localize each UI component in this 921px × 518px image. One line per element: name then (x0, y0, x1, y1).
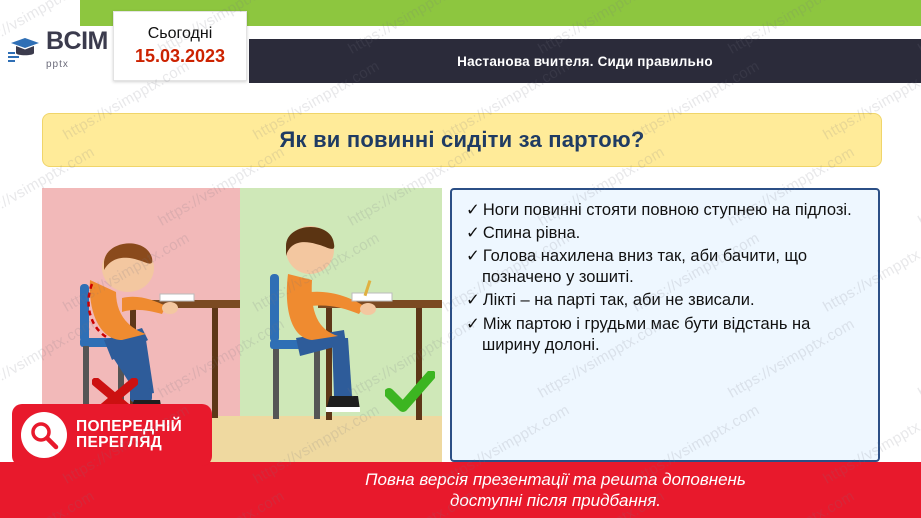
check-bullet-icon: ✓ (466, 315, 480, 333)
lesson-banner: Настанова вчителя. Сиди правильно (249, 39, 921, 83)
rules-list: ✓Ноги повинні стояти повною ступнею на п… (466, 200, 866, 356)
rule-text: Лікті – на парті так, аби не звисали. (483, 291, 755, 309)
watermark-text: https://vsimpptx.com (915, 143, 921, 229)
top-bar: BCIM pptx Сьогодні 15.03.2023 Настанова … (0, 0, 921, 104)
footer-band: Повна версія презентації та решта доповн… (0, 462, 921, 518)
check-bullet-icon: ✓ (466, 224, 480, 242)
list-item: ✓Спина рівна. (466, 223, 866, 244)
list-item: ✓Голова нахилена вниз так, аби бачити, щ… (466, 246, 866, 288)
rule-text: Спина рівна. (483, 224, 580, 242)
watermark-text: https://vsimpptx.com (0, 229, 2, 315)
graduation-cap-icon (8, 37, 42, 63)
logo: BCIM pptx (8, 28, 112, 72)
rule-text: Ноги повинні стояти повною ступнею на пі… (483, 201, 852, 219)
rule-text: Між партою і грудьми має бути відстань н… (482, 315, 810, 354)
check-bullet-icon: ✓ (466, 291, 480, 309)
preview-badge-line-1: ПОПЕРЕДНІЙ (76, 418, 182, 435)
date-value: 15.03.2023 (135, 46, 225, 67)
lesson-banner-text: Настанова вчителя. Сиди правильно (457, 54, 713, 69)
kid-correct-posture (240, 188, 442, 462)
rules-box: ✓Ноги повинні стояти повною ступнею на п… (450, 188, 880, 462)
preview-badge-line-2: ПЕРЕГЛЯД (76, 434, 162, 451)
preview-badge: ПОПЕРЕДНІЙ ПЕРЕГЛЯД (12, 404, 212, 466)
date-label: Сьогодні (148, 25, 213, 43)
preview-badge-text: ПОПЕРЕДНІЙ ПЕРЕГЛЯД (76, 419, 182, 452)
date-box: Сьогодні 15.03.2023 (113, 11, 247, 81)
list-item: ✓Лікті – на парті так, аби не звисали. (466, 290, 866, 311)
footer-text: Повна версія презентації та решта доповн… (0, 469, 921, 512)
magnifier-icon (21, 412, 67, 458)
logo-subtext: pptx (46, 59, 69, 70)
slide-title: Як ви повинні сидіти за партою? (42, 113, 882, 167)
check-bullet-icon: ✓ (466, 201, 480, 219)
list-item: ✓Ноги повинні стояти повною ступнею на п… (466, 200, 866, 221)
check-mark-icon (385, 371, 435, 415)
footer-line-2: доступні після придбання. (450, 491, 661, 510)
logo-text: BCIM (46, 27, 108, 55)
list-item: ✓Між партою і грудьми має бути відстань … (466, 314, 866, 356)
rule-text: Голова нахилена вниз так, аби бачити, що… (482, 247, 807, 286)
check-bullet-icon: ✓ (466, 247, 480, 265)
slide: BCIM pptx Сьогодні 15.03.2023 Настанова … (0, 0, 921, 518)
watermark-text: https://vsimpptx.com (915, 315, 921, 401)
slide-title-text: Як ви повинні сидіти за партою? (280, 127, 645, 153)
footer-line-1: Повна версія презентації та решта доповн… (365, 470, 746, 489)
